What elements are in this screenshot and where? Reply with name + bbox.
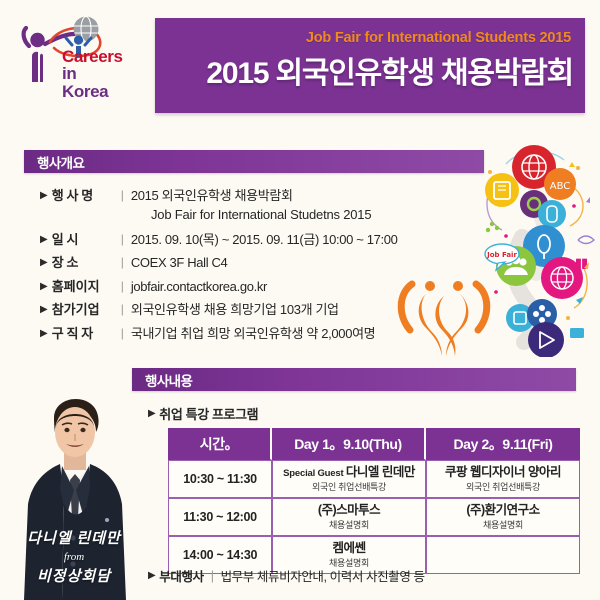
cell-day1-name: 다니엘 린데만 — [346, 465, 415, 479]
triangle-bullet-icon: ▶ — [40, 230, 48, 249]
header-banner: Job Fair for International Students 2015… — [155, 18, 585, 113]
cell-day1-subtitle: 외국인 취업선배특강 — [275, 480, 423, 493]
people-artwork — [392, 276, 496, 362]
overview-value-english: Job Fair for International Studetns 2015 — [151, 205, 371, 224]
banner-subtitle: Job Fair for International Students 2015 — [306, 30, 571, 46]
overview-separator: | — [121, 253, 124, 272]
cell-day2-title: (주)환기연구소 — [429, 503, 577, 517]
cell-time: 11:30 ~ 12:00 — [168, 498, 272, 536]
triangle-bullet-icon: ▶ — [40, 253, 48, 272]
side-events-row: ▶ 부대행사 | 법무부 체류비자안내, 이력서 사진촬영 등 — [148, 566, 425, 585]
section-bar-content: 행사내용 — [132, 368, 576, 391]
overview-separator: | — [121, 277, 124, 296]
cell-day1-title: Special Guest 다니엘 린데만 — [275, 465, 423, 480]
section-bar-overview: 행사개요 — [24, 150, 484, 173]
triangle-bullet-icon: ▶ — [148, 566, 155, 585]
program-table: 시간。 Day 1。9.10(Thu) Day 2。9.11(Fri) 10:3… — [168, 428, 580, 574]
logo-line-inkorea: in Korea — [62, 65, 123, 100]
svg-text:ABC: ABC — [550, 181, 571, 192]
cell-day1-title: (주)스마투스 — [275, 503, 423, 517]
photo-caption: 다니엘 린데만 from 비정상회담 — [10, 527, 138, 586]
cell-day1: Special Guest 다니엘 린데만 외국인 취업선배특강 — [272, 460, 426, 498]
overview-separator: | — [121, 324, 124, 343]
overview-separator: | — [121, 186, 124, 205]
cell-day2: 쿠팡 웹디자이너 양아리 외국인 취업선배특강 — [426, 460, 580, 498]
cell-day2-subtitle: 채용설명회 — [429, 518, 577, 531]
overview-key: 구 직 자 — [52, 324, 118, 343]
overview-value: COEX 3F Hall C4 — [131, 253, 228, 272]
triangle-bullet-icon: ▶ — [40, 186, 48, 205]
poster-root: Careers in Korea Job Fair for Internatio… — [0, 0, 600, 600]
overview-key: 일 시 — [52, 230, 118, 249]
banner-title: 2015 외국인유학생 채용박람회 — [206, 48, 573, 92]
table-row: 10:30 ~ 11:30 Special Guest 다니엘 린데만 외국인 … — [168, 460, 580, 498]
cell-time: 10:30 ~ 11:30 — [168, 460, 272, 498]
side-events-key: 부대행사 — [159, 566, 203, 585]
cell-day2: (주)환기연구소 채용설명회 — [426, 498, 580, 536]
cell-day2 — [426, 536, 580, 574]
program-heading-label: 취업 특강 프로그램 — [159, 404, 258, 423]
orange-people-ribbon-graphic — [392, 276, 496, 362]
overview-value: 외국인유학생 채용 희망기업 103개 기업 — [131, 300, 339, 319]
speaker-photo: 다니엘 린데만 from 비정상회담 — [10, 378, 138, 600]
photo-caption-name: 다니엘 린데만 — [10, 527, 138, 548]
overview-separator: | — [121, 300, 124, 319]
triangle-bullet-icon: ▶ — [40, 324, 48, 343]
logo-wordmark: Careers in Korea — [62, 48, 123, 100]
table-header-day2: Day 2。9.11(Fri) — [426, 428, 580, 460]
overview-value: 국내기업 취업 희망 외국인유학생 약 2,000여명 — [131, 324, 375, 343]
overview-row-datetime: ▶ 일 시 | 2015. 09. 10(목) ~ 2015. 09. 11(금… — [40, 230, 460, 250]
overview-value-url[interactable]: jobfair.contactkorea.go.kr — [131, 277, 267, 296]
overview-separator: | — [121, 230, 124, 249]
overview-value: 2015. 09. 10(목) ~ 2015. 09. 11(금) 10:00 … — [131, 230, 398, 249]
photo-caption-from: from — [10, 551, 138, 563]
cell-day1: (주)스마투스 채용설명회 — [272, 498, 426, 536]
cell-day1-subtitle: 채용설명회 — [275, 518, 423, 531]
table-header-day1: Day 1。9.10(Thu) — [272, 428, 426, 460]
section-title-overview: 행사개요 — [37, 152, 84, 172]
triangle-bullet-icon: ▶ — [40, 300, 48, 319]
table-header-time: 시간。 — [168, 428, 272, 460]
table-header-row: 시간。 Day 1。9.10(Thu) Day 2。9.11(Fri) — [168, 428, 580, 460]
program-heading: ▶ 취업 특강 프로그램 — [148, 404, 258, 423]
triangle-bullet-icon: ▶ — [40, 277, 48, 296]
overview-key: 장 소 — [52, 253, 118, 272]
overview-row-venue: ▶ 장 소 | COEX 3F Hall C4 — [40, 253, 460, 273]
overview-key: 홈페이지 — [52, 277, 118, 296]
triangle-bullet-icon: ▶ — [148, 408, 155, 419]
side-events-value: 법무부 체류비자안내, 이력서 사진촬영 등 — [221, 566, 425, 585]
section-title-content: 행사내용 — [145, 370, 192, 390]
special-guest-prefix: Special Guest — [283, 468, 346, 479]
svg-text:Job Fair: Job Fair — [486, 251, 517, 259]
careers-in-korea-logo: Careers in Korea — [16, 12, 120, 90]
table-row: 11:30 ~ 12:00 (주)스마투스 채용설명회 (주)환기연구소 채용설… — [168, 498, 580, 536]
cell-day2-subtitle: 외국인 취업선배특강 — [429, 480, 577, 493]
overview-row-event-name: ▶ 행 사 명 | 2015 외국인유학생 채용박람회 Job Fair for… — [40, 186, 460, 226]
photo-caption-show: 비정상회담 — [10, 565, 138, 586]
cell-day1-title: 켐에쎈 — [275, 541, 423, 555]
side-events-separator: | — [211, 569, 214, 583]
cell-day2-title: 쿠팡 웹디자이너 양아리 — [429, 465, 577, 479]
overview-key: 참가기업 — [52, 300, 118, 319]
overview-value: 2015 외국인유학생 채용박람회 — [131, 186, 293, 205]
logo-line-careers: Careers — [62, 48, 123, 65]
overview-key: 행 사 명 — [52, 186, 118, 205]
